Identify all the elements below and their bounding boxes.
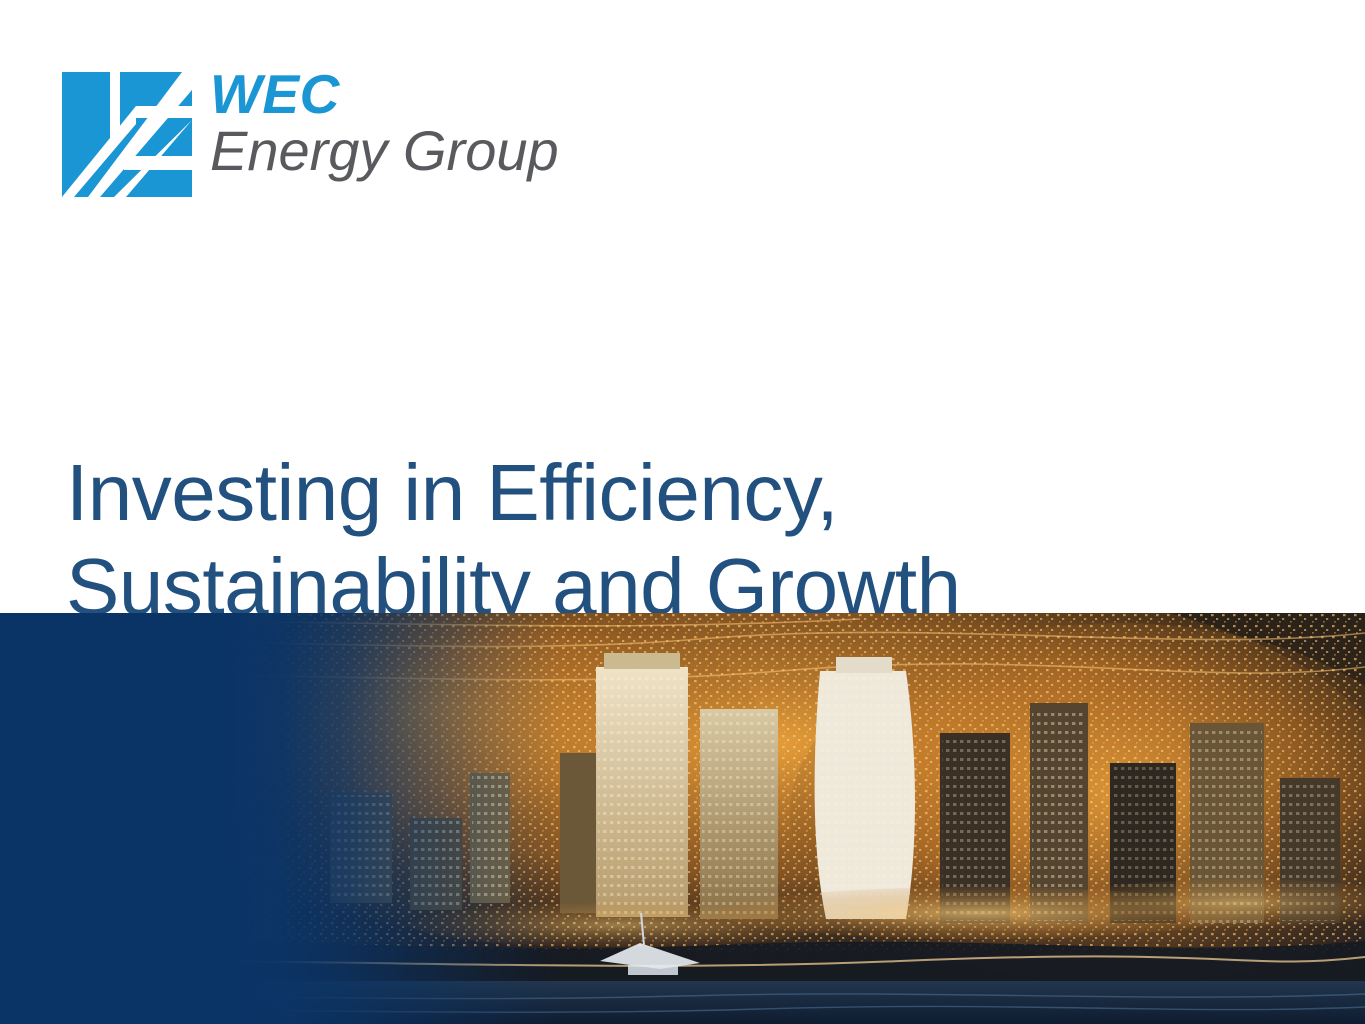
- slide-title: Investing in Efficiency, Sustainability …: [66, 446, 1186, 635]
- hero-photo-band: Investor Update: June 2024: [0, 613, 1365, 1024]
- title-slide: WEC Energy Group Investing in Efficiency…: [0, 0, 1365, 1024]
- logo-wordmark: WEC Energy Group: [210, 68, 559, 179]
- navy-gradient-overlay: [0, 613, 560, 1024]
- wec-logo-mark: [62, 72, 192, 197]
- logo-text-wec: WEC: [210, 68, 559, 122]
- wec-energy-group-logo: WEC Energy Group: [62, 72, 559, 197]
- logo-text-energy-group: Energy Group: [210, 124, 559, 179]
- slide-title-line-1: Investing in Efficiency,: [66, 446, 1186, 540]
